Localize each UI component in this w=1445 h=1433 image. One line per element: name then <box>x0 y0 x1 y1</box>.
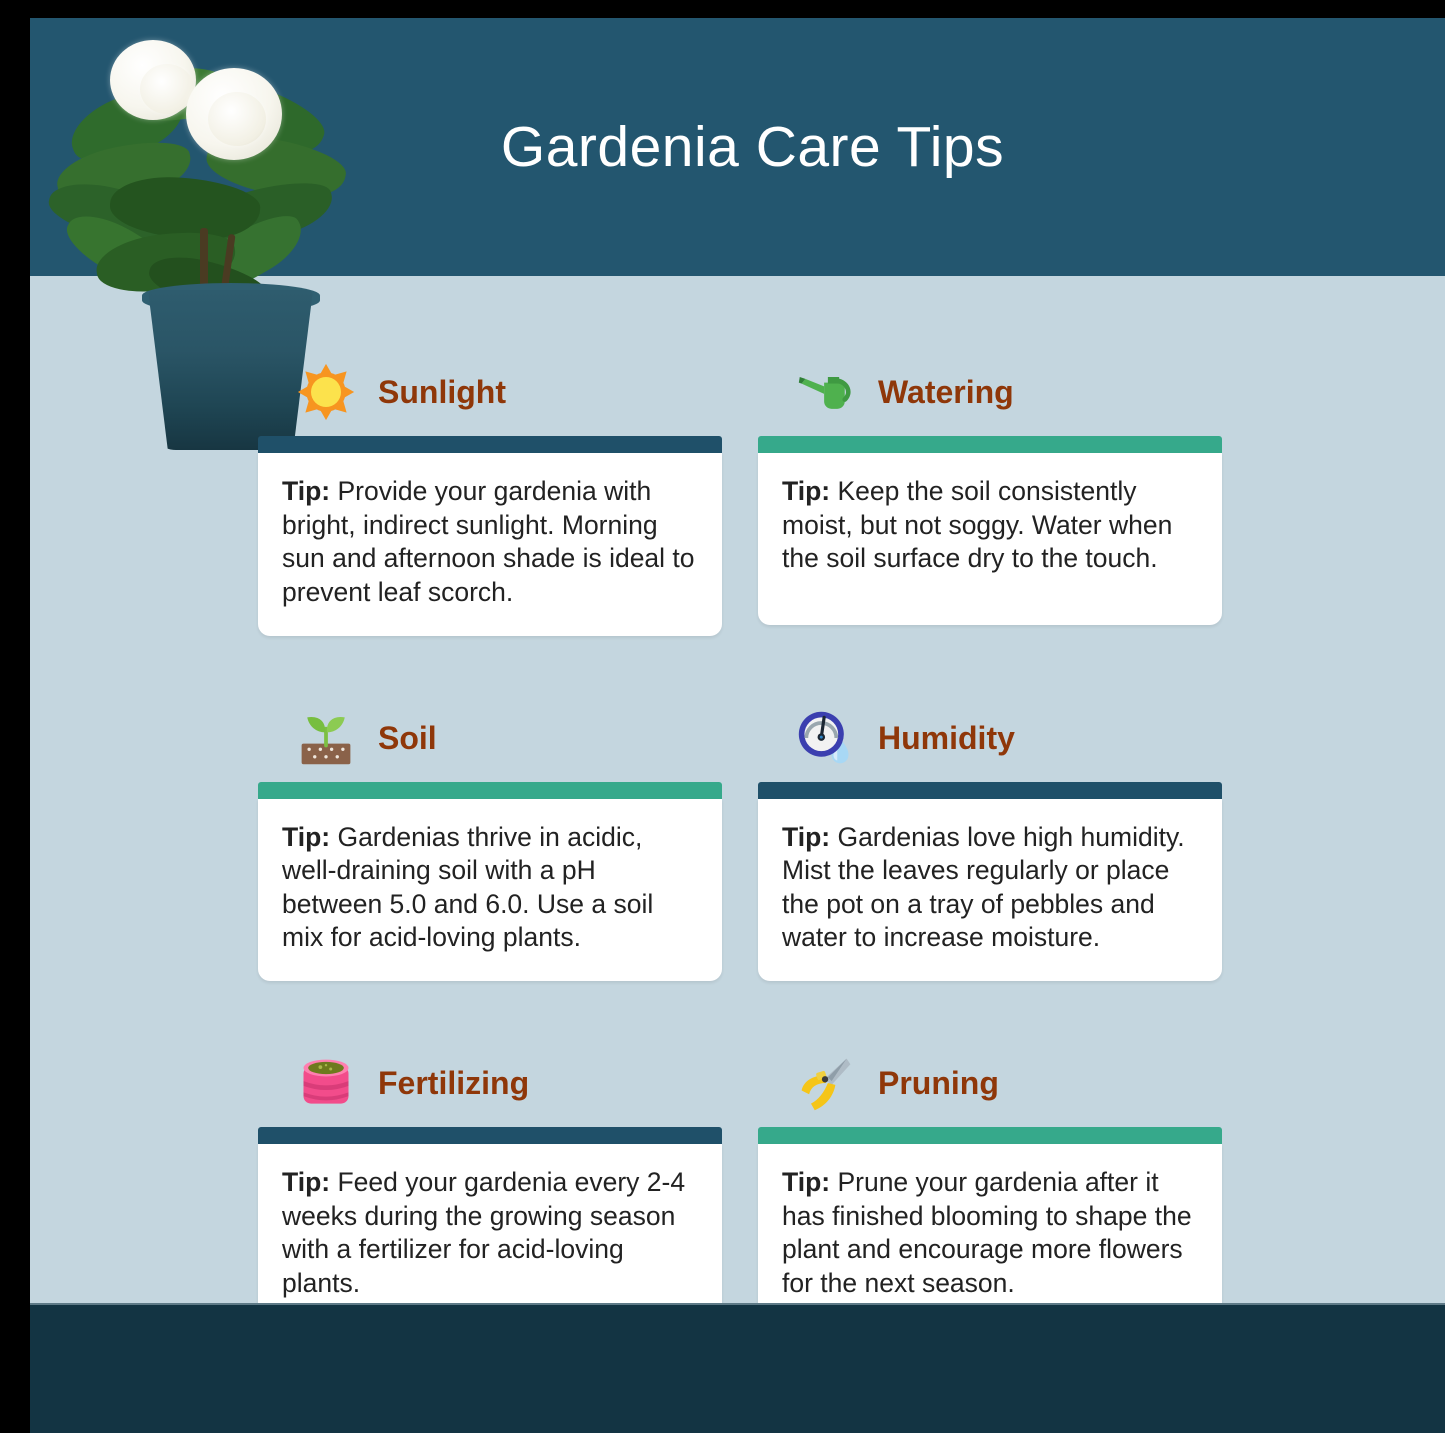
care-card-soil[interactable]: Soil Tip: Gardenias thrive in acidic, we… <box>258 694 722 982</box>
care-card-humidity[interactable]: Humidity Tip: Gardenias love high humidi… <box>758 694 1222 982</box>
card-title-humidity: Humidity <box>878 722 1015 754</box>
tip-text-pruning: Prune your gardenia after it has finishe… <box>782 1167 1192 1298</box>
tip-text-watering: Keep the soil consistently moist, but no… <box>782 476 1172 573</box>
tip-text-soil: Gardenias thrive in acidic, well-drainin… <box>282 822 653 953</box>
card-header-soil: Soil <box>258 694 722 782</box>
accent-bar-humidity <box>758 782 1222 799</box>
accent-bar-fertilizing <box>258 1127 722 1144</box>
accent-bar-pruning <box>758 1127 1222 1144</box>
card-body-humidity: Tip: Gardenias love high humidity. Mist … <box>758 799 1222 982</box>
accent-bar-sunlight <box>258 436 722 453</box>
infographic-poster: Gardenia Care Tips <box>30 18 1445 1433</box>
card-header-fertilizing: Fertilizing <box>258 1039 722 1127</box>
card-body-soil: Tip: Gardenias thrive in acidic, well-dr… <box>258 799 722 982</box>
tip-label-humidity: Tip: <box>782 822 837 852</box>
pruning-shears-icon <box>796 1053 856 1113</box>
card-title-fertilizing: Fertilizing <box>378 1067 529 1099</box>
fertilizer-can-icon <box>296 1053 356 1113</box>
tip-label-soil: Tip: <box>282 822 337 852</box>
tip-label-watering: Tip: <box>782 476 837 506</box>
accent-bar-watering <box>758 436 1222 453</box>
watering-can-icon <box>796 362 856 422</box>
card-header-watering: Watering <box>758 348 1222 436</box>
care-tips-grid: Sunlight Tip: Provide your gardenia with… <box>258 348 1222 1327</box>
care-card-fertilizing[interactable]: Fertilizing Tip: Feed your gardenia ever… <box>258 1039 722 1327</box>
footer-band <box>30 1303 1445 1433</box>
humidity-gauge-droplet-icon <box>796 708 856 768</box>
card-title-watering: Watering <box>878 376 1014 408</box>
card-header-sunlight: Sunlight <box>258 348 722 436</box>
tip-text-sunlight: Provide your gardenia with bright, indir… <box>282 476 695 607</box>
card-body-sunlight: Tip: Provide your gardenia with bright, … <box>258 453 722 636</box>
card-title-pruning: Pruning <box>878 1067 999 1099</box>
care-card-sunlight[interactable]: Sunlight Tip: Provide your gardenia with… <box>258 348 722 636</box>
card-body-watering: Tip: Keep the soil consistently moist, b… <box>758 453 1222 625</box>
care-card-pruning[interactable]: Pruning Tip: Prune your gardenia after i… <box>758 1039 1222 1327</box>
card-body-fertilizing: Tip: Feed your gardenia every 2-4 weeks … <box>258 1144 722 1327</box>
tip-label-fertilizing: Tip: <box>282 1167 337 1197</box>
tip-text-fertilizing: Feed your gardenia every 2-4 weeks durin… <box>282 1167 685 1298</box>
card-header-pruning: Pruning <box>758 1039 1222 1127</box>
card-title-sunlight: Sunlight <box>378 376 506 408</box>
tip-label-pruning: Tip: <box>782 1167 837 1197</box>
card-body-pruning: Tip: Prune your gardenia after it has fi… <box>758 1144 1222 1327</box>
accent-bar-soil <box>258 782 722 799</box>
sun-icon <box>296 362 356 422</box>
tip-text-humidity: Gardenias love high humidity. Mist the l… <box>782 822 1185 953</box>
care-card-watering[interactable]: Watering Tip: Keep the soil consistently… <box>758 348 1222 636</box>
card-title-soil: Soil <box>378 722 437 754</box>
tip-label-sunlight: Tip: <box>282 476 337 506</box>
seedling-soil-icon <box>296 708 356 768</box>
card-header-humidity: Humidity <box>758 694 1222 782</box>
